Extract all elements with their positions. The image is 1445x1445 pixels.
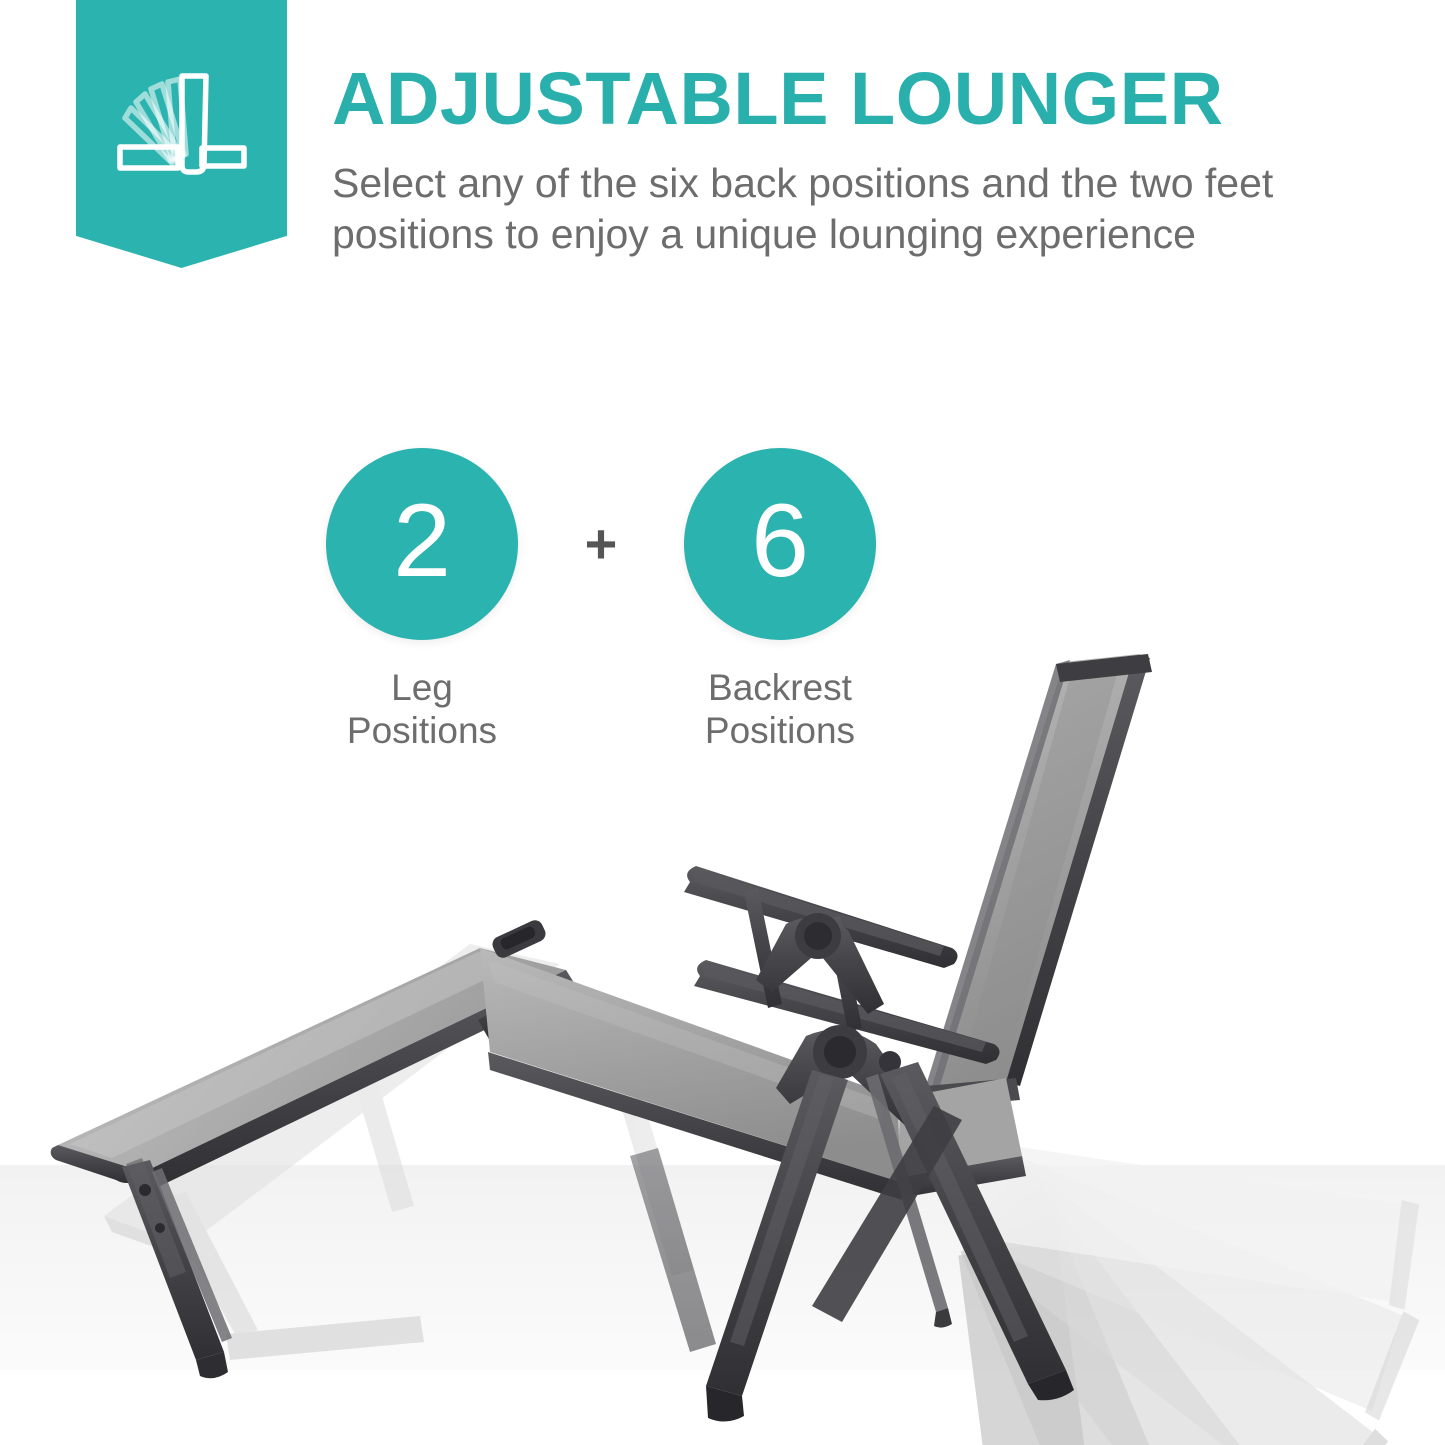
stat-number-backrest: 6 [751,489,809,593]
infographic-page: ADJUSTABLE LOUNGER Select any of the six… [0,0,1445,1445]
footrest-clip [490,918,548,961]
brand-banner [76,0,287,268]
stat-number-leg: 2 [393,489,451,593]
header-text-block: ADJUSTABLE LOUNGER Select any of the six… [332,62,1392,260]
adjustable-backrest-fan-icon [106,62,256,187]
page-title: ADJUSTABLE LOUNGER [332,62,1392,136]
product-photo [0,600,1445,1445]
page-subtitle: Select any of the six back positions and… [332,158,1392,260]
lounge-chair-illustration [0,600,1445,1445]
